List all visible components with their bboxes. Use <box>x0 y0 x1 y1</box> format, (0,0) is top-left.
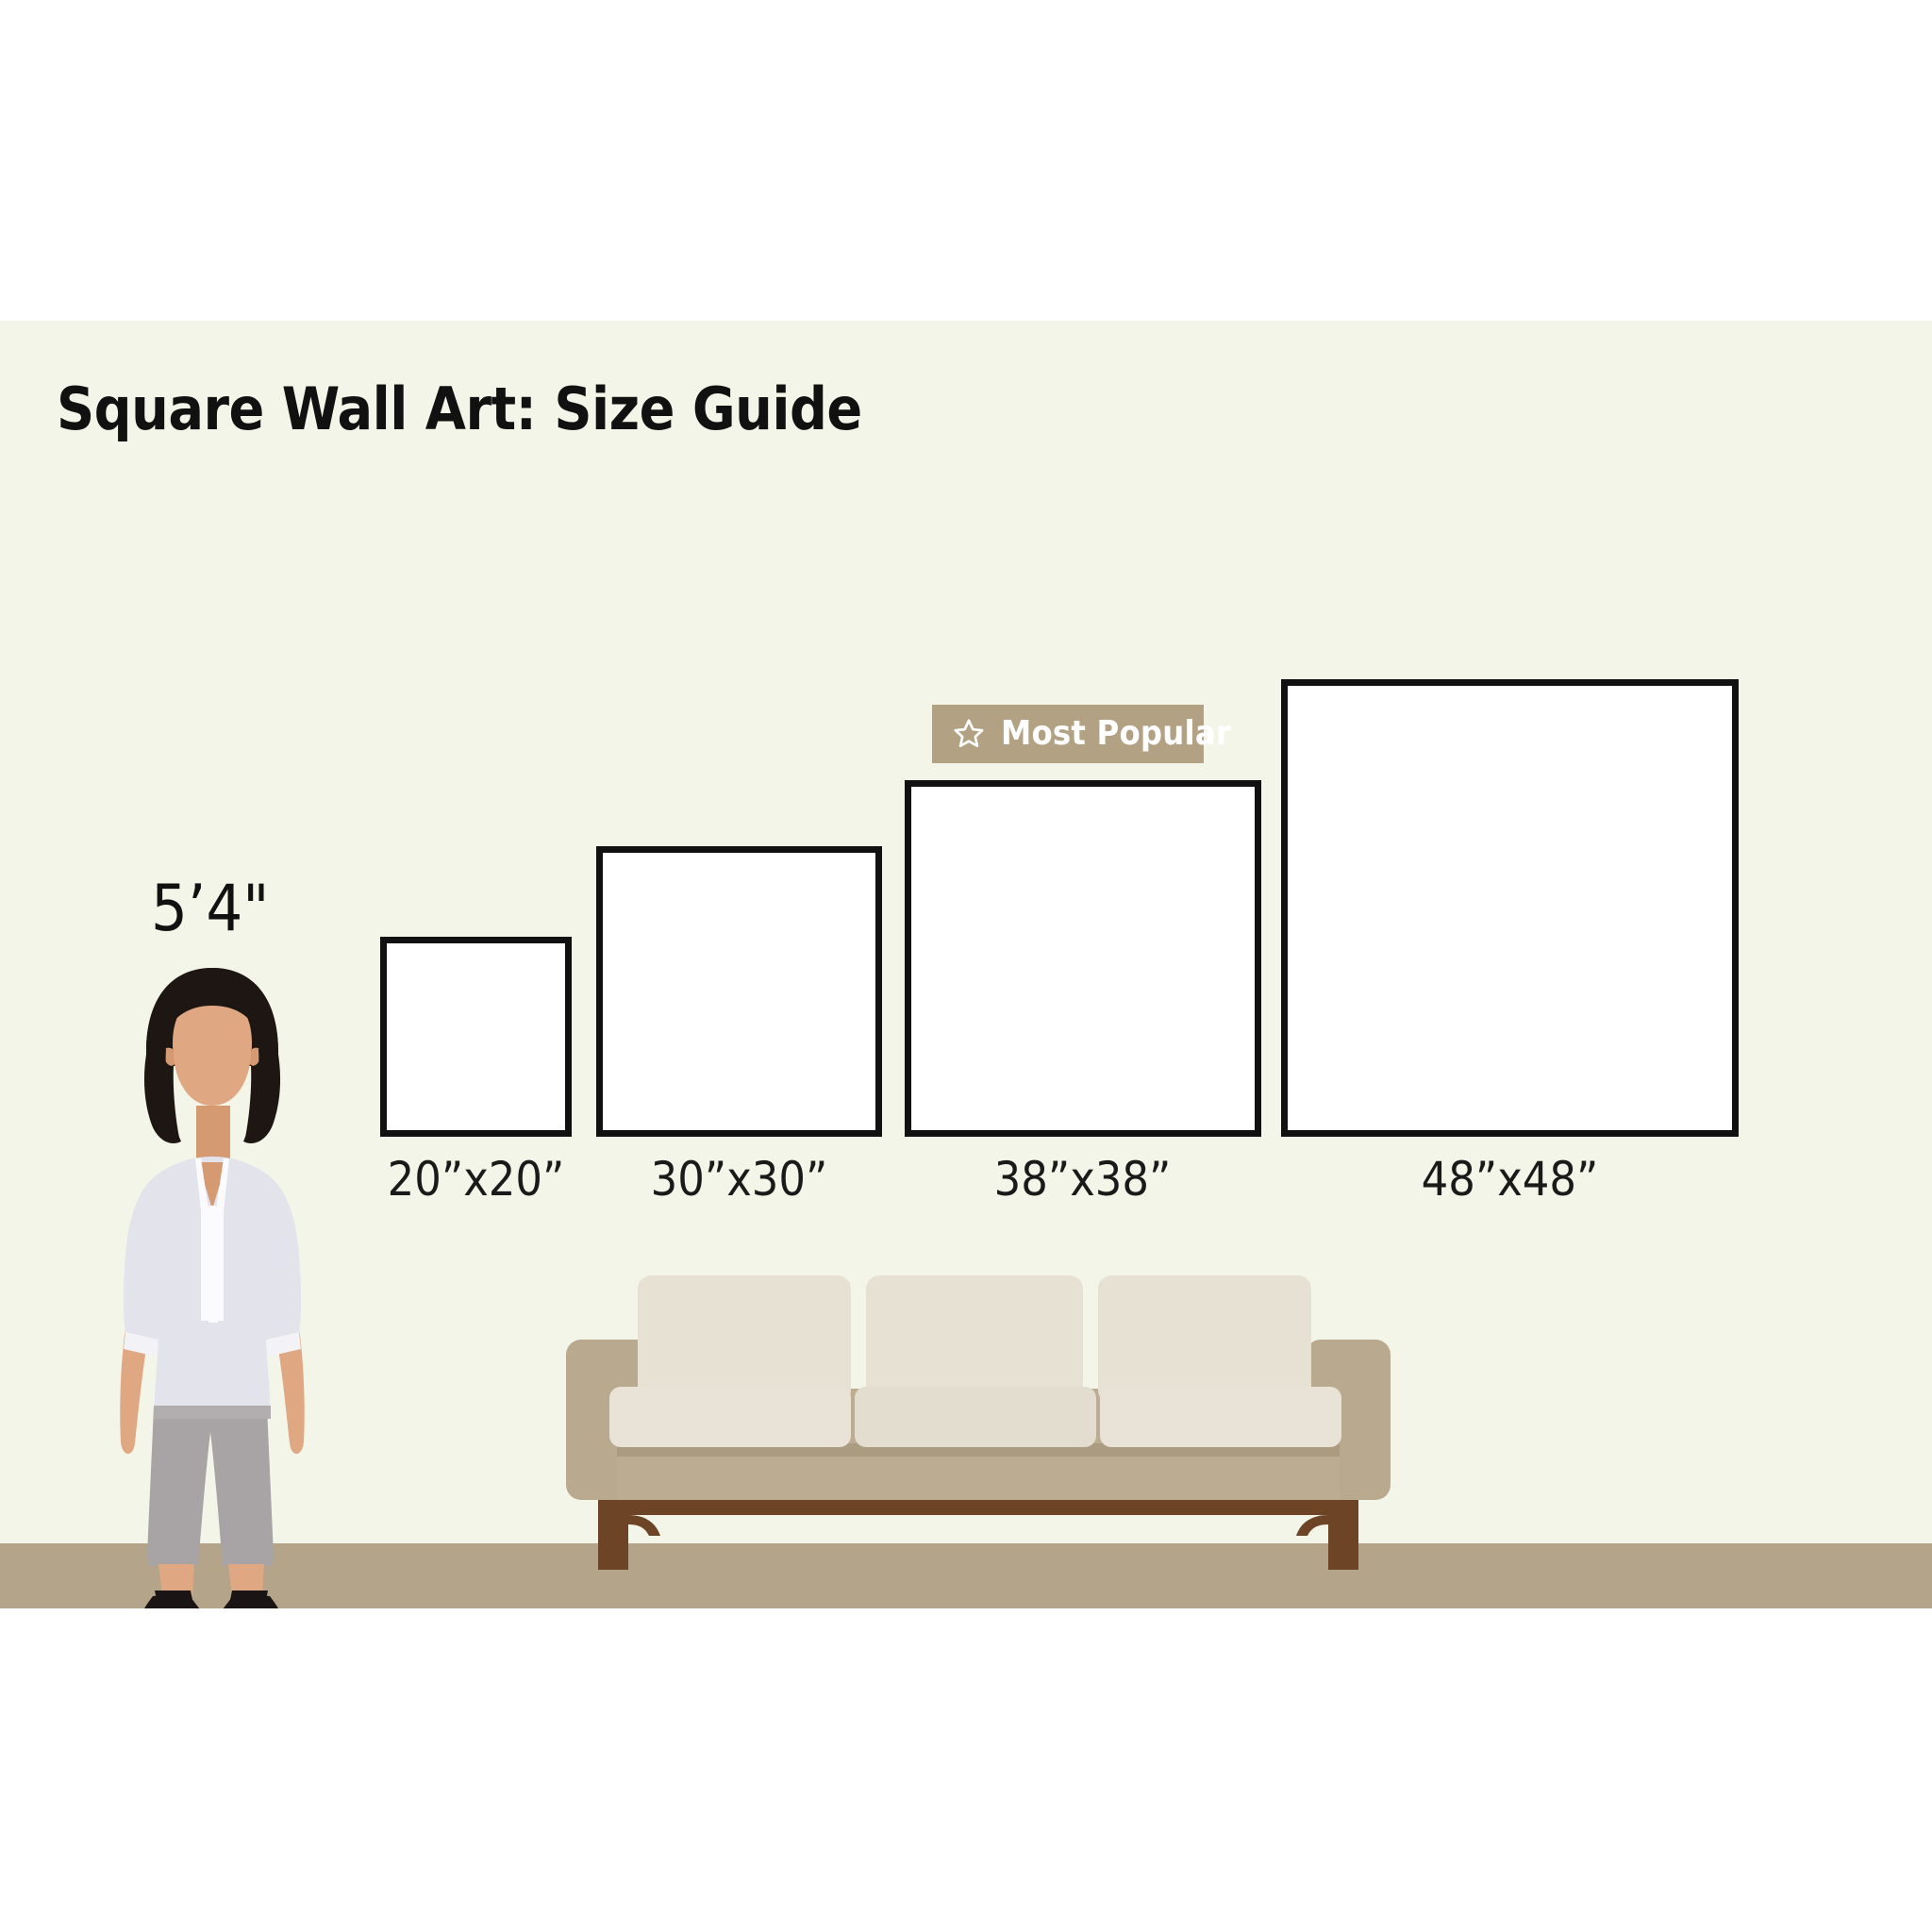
shoe-strap-right <box>230 1591 268 1600</box>
frame-label-38x38: 38”x38” <box>968 1156 1197 1203</box>
frame-label-48x48: 48”x48” <box>1395 1156 1624 1203</box>
waistband <box>154 1406 271 1419</box>
frame-label-30x30: 30”x30” <box>625 1156 854 1203</box>
pants <box>147 1406 274 1566</box>
placket-strip <box>208 1206 218 1323</box>
sofa-back-cushion-2 <box>866 1275 1083 1404</box>
star-outline-icon <box>953 718 985 750</box>
sofa <box>558 1268 1398 1579</box>
page-title: Square Wall Art: Size Guide <box>57 380 862 439</box>
person-figure <box>104 962 321 1608</box>
sofa-seat-cushion-3 <box>1100 1387 1341 1447</box>
sofa-seat-cushion-1 <box>609 1387 851 1447</box>
frame-label-20x20: 20”x20” <box>361 1156 591 1203</box>
frame-38x38[interactable] <box>905 780 1261 1137</box>
sofa-back-cushion-3 <box>1098 1275 1311 1404</box>
frame-30x30[interactable] <box>596 846 882 1137</box>
room-scene: Square Wall Art: Size Guide 5’4" <box>0 321 1932 1608</box>
most-popular-badge-label: Most Popular <box>1001 717 1231 751</box>
frame-48x48[interactable] <box>1281 679 1739 1137</box>
frame-20x20[interactable] <box>380 937 572 1137</box>
height-reference-label: 5’4" <box>151 877 269 941</box>
sofa-seat-cushion-2 <box>855 1387 1096 1447</box>
sofa-legs <box>598 1498 1358 1570</box>
shoe-strap-left <box>155 1591 192 1600</box>
most-popular-badge[interactable]: Most Popular <box>932 705 1204 763</box>
sofa-back-cushion-1 <box>638 1275 851 1404</box>
